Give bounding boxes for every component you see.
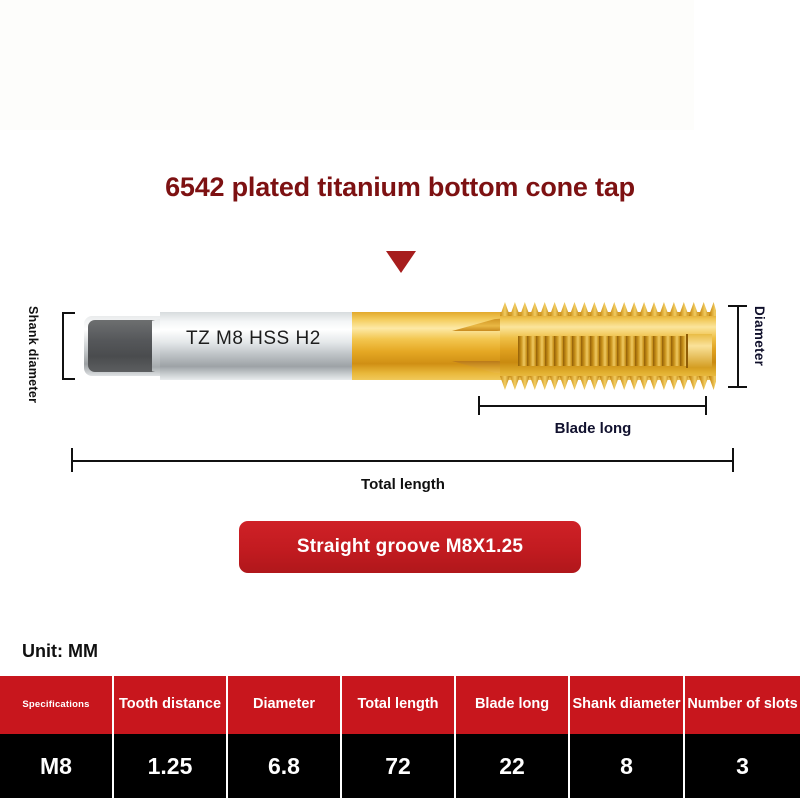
down-triangle-pointer-icon	[386, 251, 416, 273]
table-row: M8 1.25 6.8 72 22 8 3	[0, 734, 800, 798]
shank-diameter-label: Shank diameter	[26, 306, 40, 403]
specification-table: Specifications Tooth distance Diameter T…	[0, 676, 800, 798]
diameter-tick-bottom	[728, 386, 747, 388]
diameter-label: Diameter	[752, 306, 767, 366]
table-header-specifications: Specifications	[0, 676, 114, 734]
table-cell-blade-long: 22	[456, 734, 570, 798]
total-length-label: Total length	[72, 476, 734, 493]
total-length-dimension-line	[72, 460, 734, 462]
blade-long-tick-right	[705, 396, 707, 415]
threaded-section	[500, 300, 716, 392]
table-header-tooth-distance: Tooth distance	[114, 676, 228, 734]
thread-crest-bottom	[500, 376, 716, 390]
product-spec-page: 6542 plated titanium bottom cone tap TZ …	[0, 0, 800, 800]
page-title: 6542 plated titanium bottom cone tap	[0, 172, 800, 203]
table-cell-diameter: 6.8	[228, 734, 342, 798]
thread-crest-top	[500, 302, 716, 316]
table-header-total-length: Total length	[342, 676, 456, 734]
table-cell-total-length: 72	[342, 734, 456, 798]
square-drive-end	[88, 320, 160, 372]
table-cell-shank-diameter: 8	[570, 734, 685, 798]
table-header-row: Specifications Tooth distance Diameter T…	[0, 676, 800, 734]
thread-ribs	[518, 336, 690, 366]
table-header-diameter: Diameter	[228, 676, 342, 734]
diameter-dimension-line	[737, 306, 739, 388]
top-blank-area	[0, 0, 694, 130]
shank-marking-text: TZ M8 HSS H2	[186, 328, 366, 350]
groove-type-banner: Straight groove M8X1.25	[239, 521, 581, 573]
table-cell-specifications: M8	[0, 734, 114, 798]
table-cell-tooth-distance: 1.25	[114, 734, 228, 798]
unit-label: Unit: MM	[22, 641, 98, 662]
total-length-tick-right	[732, 448, 734, 472]
tap-tool-diagram: TZ M8 HSS H2 Shank diameter Diameter Bla…	[0, 280, 800, 510]
table-header-blade-long: Blade long	[456, 676, 570, 734]
blade-long-dimension-line	[479, 405, 707, 407]
table-header-number-of-slots: Number of slots	[685, 676, 800, 734]
shank-diameter-bracket	[62, 312, 75, 380]
table-cell-number-of-slots: 3	[685, 734, 800, 798]
blade-long-label: Blade long	[479, 420, 707, 437]
table-header-shank-diameter: Shank diameter	[570, 676, 685, 734]
tap-tip-end	[686, 334, 712, 368]
